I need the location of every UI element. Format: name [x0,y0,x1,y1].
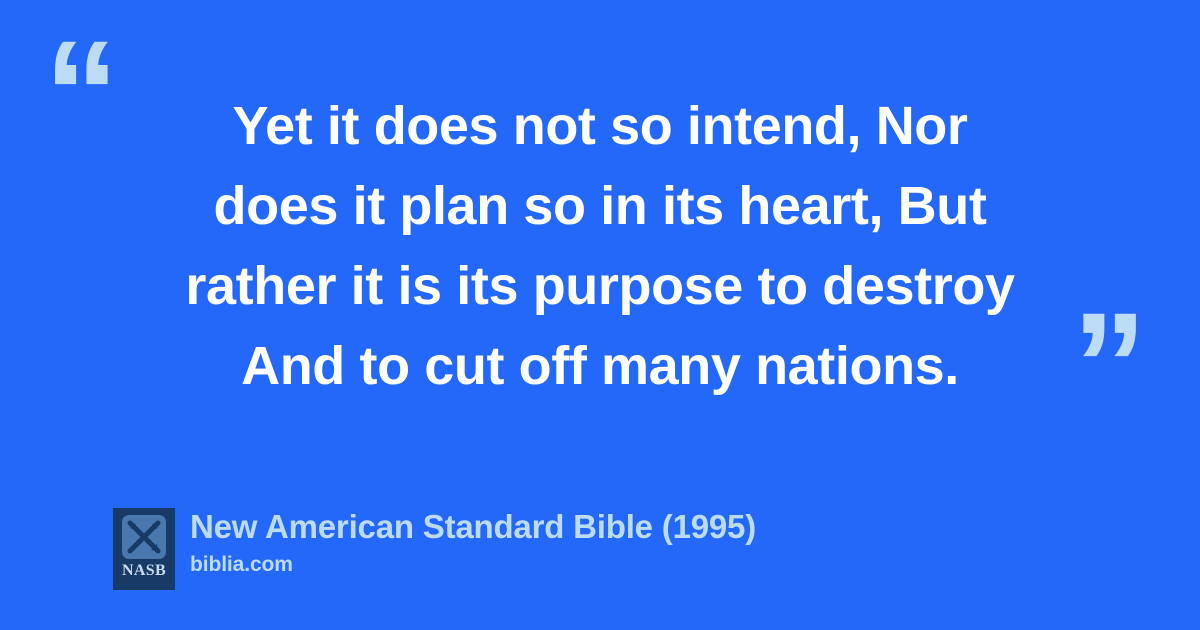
nasb-logo-icon: NASB [113,508,175,590]
attribution: NASB New American Standard Bible (1995) … [113,505,756,590]
source-url[interactable]: biblia.com [190,552,756,578]
close-quote-icon: ” [1072,290,1145,440]
nasb-wordmark: NASB [122,563,166,579]
quote-line: Yet it does not so intend, Nor [108,86,1092,166]
quote-line: rather it is its purpose to destroy [108,246,1092,326]
nasb-emblem-icon [122,515,166,559]
attribution-text: New American Standard Bible (1995) bibli… [190,505,756,578]
quote-line: does it plan so in its heart, But [108,166,1092,246]
bible-version-title: New American Standard Bible (1995) [190,505,756,549]
quote-text-block: Yet it does not so intend, Nor does it p… [108,86,1092,406]
quote-card: “ Yet it does not so intend, Nor does it… [0,0,1200,630]
quote-line: And to cut off many nations. [108,326,1092,406]
open-quote-icon: “ [44,18,117,168]
